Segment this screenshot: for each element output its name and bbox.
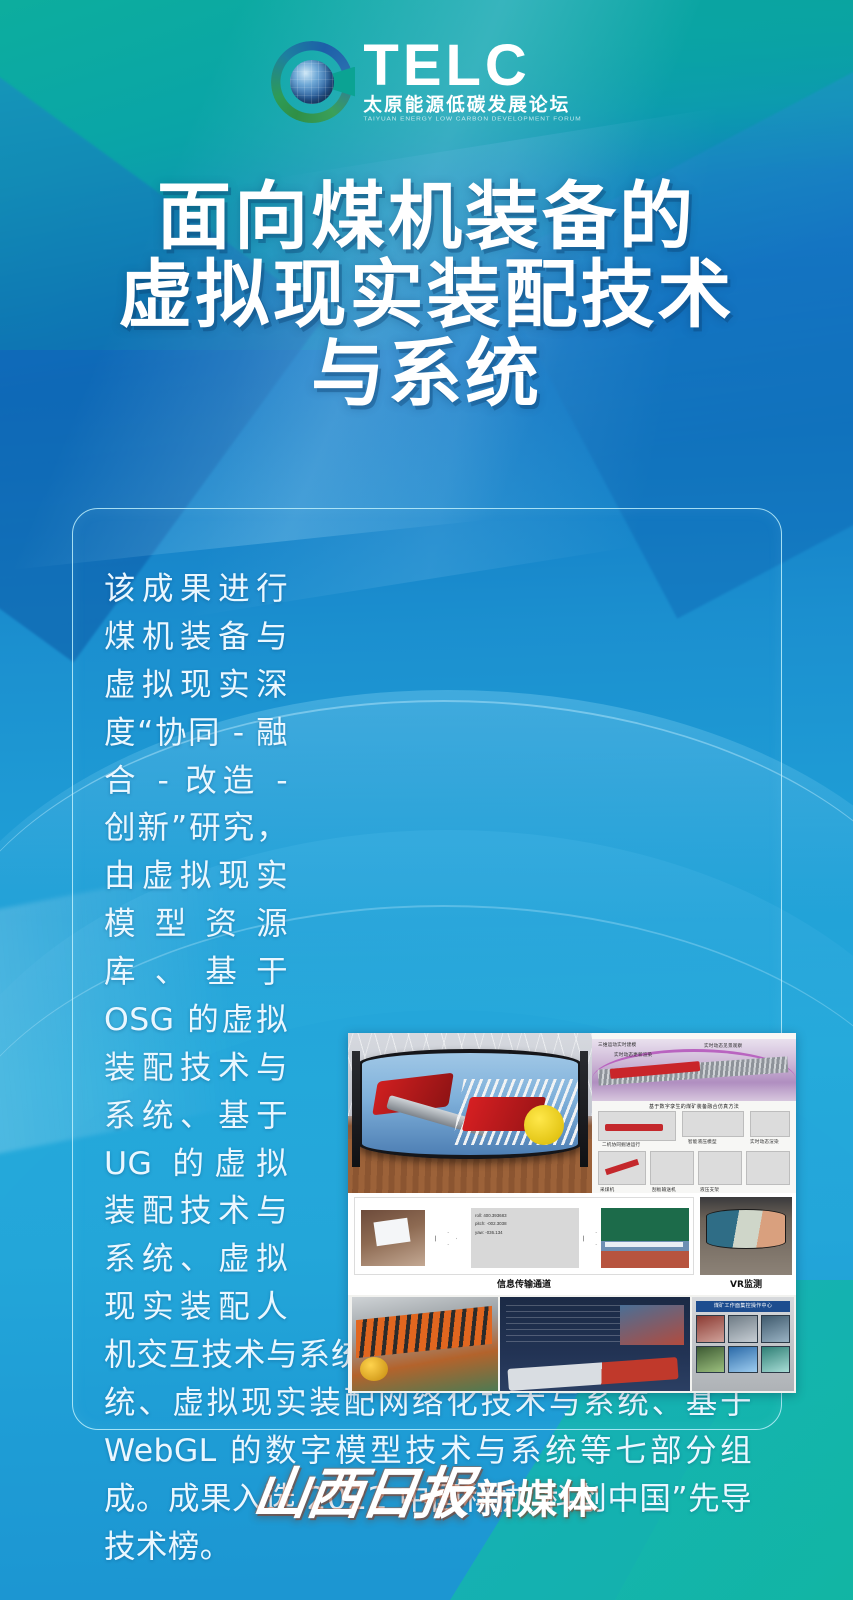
diagram-thumb-3 bbox=[750, 1111, 790, 1137]
monitor-4 bbox=[696, 1346, 725, 1374]
footer-brand: 山西日报 新媒体 bbox=[0, 1449, 853, 1530]
diagram-thumb-label-2: 智能液压模型 bbox=[688, 1139, 717, 1145]
logo-acronym: TELC bbox=[363, 38, 581, 93]
diagram-thumb-2 bbox=[682, 1111, 744, 1137]
support-row bbox=[356, 1306, 492, 1358]
thumb-arm bbox=[605, 1159, 639, 1175]
caption-vr-monitoring: VR监测 bbox=[700, 1277, 792, 1290]
diagram-thumb-1 bbox=[598, 1111, 676, 1141]
collage-row-middle: roll: 400.393683 pitch: -002.3038 yaw: -… bbox=[348, 1193, 796, 1295]
caption-info-channel: 信息传输通道 bbox=[354, 1277, 694, 1290]
monitoring-dashboard-screenshot bbox=[500, 1297, 690, 1391]
pose-row-yaw: yaw: -036.134 bbox=[475, 1229, 575, 1237]
title-line-3: 与系统 bbox=[0, 335, 853, 413]
poster: TELC 太原能源低碳发展论坛 TAIYUAN ENERGY LOW CARBO… bbox=[0, 0, 853, 1600]
diagram-label-3: 实时动态见景观察 bbox=[704, 1043, 742, 1049]
dashboard-preview bbox=[620, 1305, 684, 1345]
header-logo: TELC 太原能源低碳发展论坛 TAIYUAN ENERGY LOW CARBO… bbox=[0, 38, 853, 125]
collage-row-top: 三维运动实时建模 实时动态更新渲染 实时动态见景观察 基于数字孪生的煤矿装备融合… bbox=[348, 1033, 796, 1193]
hydraulic-support-photo bbox=[352, 1297, 498, 1391]
screen-pillar-right bbox=[580, 1051, 588, 1167]
vr-monitoring-photo bbox=[700, 1197, 792, 1275]
curved-display bbox=[358, 1049, 582, 1159]
diagram-thumb-7 bbox=[746, 1151, 790, 1185]
vr-scene-bar bbox=[605, 1242, 683, 1247]
logo-chinese-name: 太原能源低碳发展论坛 bbox=[363, 96, 581, 115]
control-center-photo: 煤矿工作面集控操作中心 bbox=[692, 1297, 794, 1391]
telc-globe-c-logo-icon bbox=[271, 41, 353, 123]
brand-suffix: 新媒体 bbox=[476, 1467, 599, 1525]
diagram-thumb-label-1: 二机协同掘进运行 bbox=[602, 1142, 640, 1148]
pose-key-roll: roll: bbox=[475, 1213, 482, 1218]
monitor-3 bbox=[761, 1315, 790, 1343]
diagram-hero-render: 三维运动实时建模 实时动态更新渲染 实时动态见景观察 bbox=[592, 1039, 796, 1101]
pose-value-yaw: -036.134 bbox=[485, 1230, 502, 1235]
vr-curved-screen-photo bbox=[348, 1033, 592, 1193]
monitor-1 bbox=[696, 1315, 725, 1343]
diagram-label-2: 实时动态更新渲染 bbox=[614, 1052, 652, 1058]
cutting-drum bbox=[524, 1105, 564, 1145]
project-screenshot-collage: 三维运动实时建模 实时动态更新渲染 实时动态见景观察 基于数字孪生的煤矿装备融合… bbox=[348, 1033, 796, 1393]
pose-key-yaw: yaw: bbox=[475, 1230, 484, 1235]
dashboard-table bbox=[506, 1305, 626, 1347]
page-title: 面向煤机装备的 虚拟现实装配技术 与系统 bbox=[0, 178, 853, 413]
globe-icon bbox=[290, 60, 334, 104]
pose-key-pitch: pitch: bbox=[475, 1221, 486, 1226]
diagram-thumb-4 bbox=[598, 1151, 646, 1185]
diagram-mid-caption: 基于数字孪生的煤矿装备融合仿真方法 bbox=[592, 1103, 796, 1110]
pose-row-pitch: pitch: -002.3038 bbox=[475, 1220, 575, 1228]
diagram-label-1: 三维运动实时建模 bbox=[598, 1042, 636, 1048]
vr-scene-screen bbox=[601, 1208, 689, 1268]
dashboard-machine-render bbox=[507, 1357, 678, 1391]
diagram-thumb-6 bbox=[698, 1151, 742, 1185]
support-drum bbox=[360, 1357, 388, 1381]
pose-value-roll: 400.393683 bbox=[483, 1213, 506, 1218]
pose-row-roll: roll: 400.393683 bbox=[475, 1212, 575, 1220]
vr-monitor-screen bbox=[706, 1209, 786, 1249]
diagram-thumb-label-3: 实时动态渲染 bbox=[750, 1139, 779, 1145]
pose-capture-photo bbox=[361, 1210, 425, 1266]
title-line-2: 虚拟现实装配技术 bbox=[0, 256, 853, 334]
pose-value-pitch: -002.3038 bbox=[487, 1221, 507, 1226]
digital-twin-diagram: 三维运动实时建模 实时动态更新渲染 实时动态见景观察 基于数字孪生的煤矿装备融合… bbox=[592, 1033, 796, 1193]
title-line-1: 面向煤机装备的 bbox=[0, 178, 853, 256]
diagram-thumb-5 bbox=[650, 1151, 694, 1185]
pose-data-readout: roll: 400.393683 pitch: -002.3038 yaw: -… bbox=[471, 1208, 579, 1268]
brand-calligraphy: 山西日报 bbox=[248, 1449, 475, 1530]
control-center-title: 煤矿工作面集控操作中心 bbox=[696, 1301, 790, 1312]
flow-arrow-1-icon bbox=[435, 1232, 457, 1245]
monitor-5 bbox=[728, 1346, 757, 1374]
monitor-6 bbox=[761, 1346, 790, 1374]
logo-english-name: TAIYUAN ENERGY LOW CARBON DEVELOPMENT FO… bbox=[363, 117, 581, 123]
thumb-red-bar bbox=[605, 1124, 663, 1131]
control-center-monitor-grid bbox=[696, 1315, 790, 1373]
capture-marker bbox=[373, 1218, 410, 1246]
logo-wordmark: TELC 太原能源低碳发展论坛 TAIYUAN ENERGY LOW CARBO… bbox=[363, 38, 581, 125]
monitor-2 bbox=[728, 1315, 757, 1343]
collage-row-bottom: 煤矿工作面集控操作中心 bbox=[348, 1295, 796, 1393]
info-transmission-panel: roll: 400.393683 pitch: -002.3038 yaw: -… bbox=[354, 1197, 694, 1275]
screen-pillar-left bbox=[352, 1051, 360, 1167]
